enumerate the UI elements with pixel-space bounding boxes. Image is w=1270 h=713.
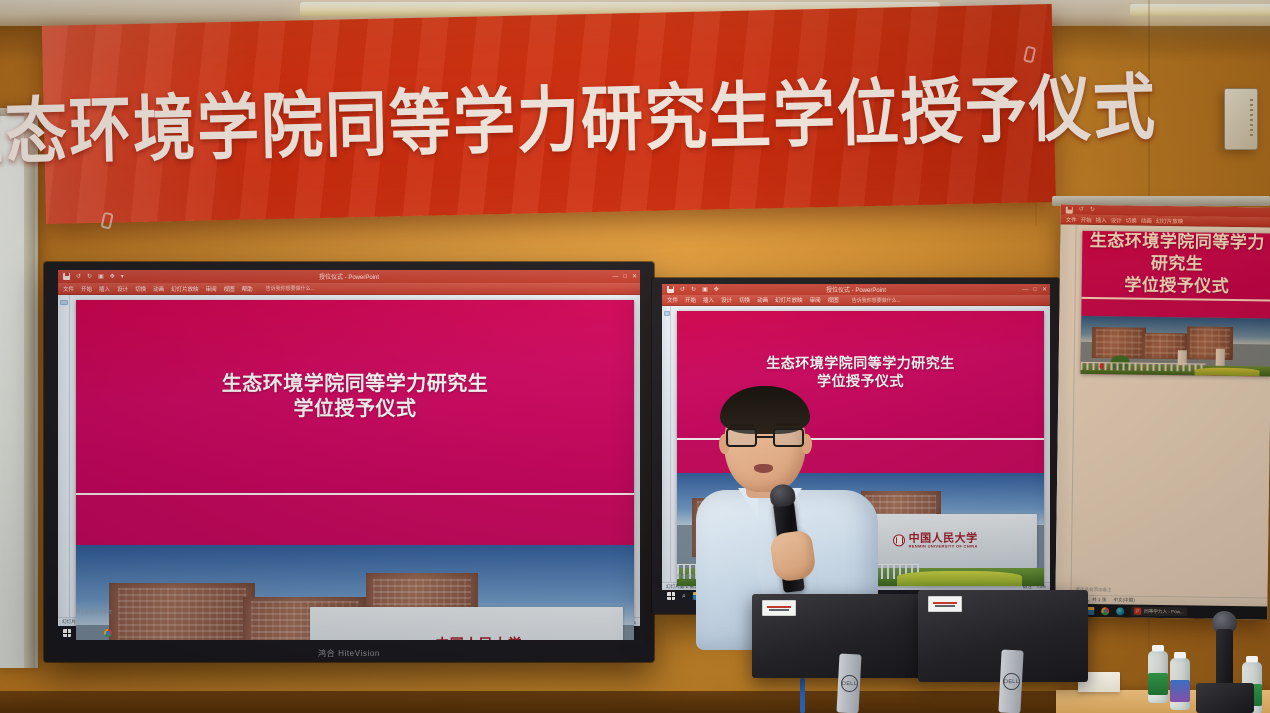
slide-canvas-proj[interactable]: 生态环境学院同等学力研究生 学位授予仪式 [1071, 225, 1270, 598]
tab-file-proj[interactable]: 文件 [1066, 215, 1077, 223]
tab-slideshow-proj[interactable]: 幻灯片放映 [1156, 216, 1184, 224]
undo-icon-right[interactable]: ↺ [680, 287, 685, 293]
slide-divider-rule [76, 493, 634, 495]
microphone-head-icon [769, 483, 796, 508]
table-microphone-rod [1216, 629, 1233, 691]
tab-help[interactable]: 帮助 [242, 285, 253, 293]
monitor-stand-right: DELL [998, 649, 1023, 713]
ppt-editing-area-proj: 生态环境学院同等学力研究生 学位授予仪式 [1055, 225, 1270, 598]
speaker-brow-right [776, 423, 800, 426]
undo-icon[interactable]: ↺ [76, 274, 81, 280]
monitor-cable [800, 678, 805, 713]
tab-slideshow[interactable]: 幻灯片放映 [171, 285, 199, 293]
slide-title-line-2: 学位授予仪式 [222, 396, 489, 422]
chrome-icon[interactable] [104, 629, 112, 637]
tab-home-proj[interactable]: 开始 [1081, 215, 1092, 223]
photo-building-right-proj [1187, 326, 1233, 360]
screen-left[interactable]: ↺ ↻ ▣ ✥ ▾ 授位仪式 - PowerPoint — □ ✕ 文件 [58, 270, 640, 640]
tab-review-right[interactable]: 审阅 [810, 296, 821, 304]
redo-icon-proj[interactable]: ↻ [1090, 207, 1095, 213]
ppt-title-bar-right: ↺ ↻ ▣ ✥ 授位仪式 - PowerPoint — □ ✕ [662, 284, 1050, 295]
tab-design-right[interactable]: 设计 [721, 296, 732, 304]
close-icon-right[interactable]: ✕ [1042, 287, 1047, 293]
powerpoint-window-projected: ↺ ↻ 文件 开始 插入 设计 切换 动画 幻灯片放映 [1055, 205, 1270, 620]
tab-design-proj[interactable]: 设计 [1111, 216, 1122, 224]
photo-pedestrian-proj [1100, 363, 1104, 369]
tab-review[interactable]: 审阅 [206, 285, 217, 293]
tab-slideshow-right[interactable]: 幻灯片放映 [775, 296, 803, 304]
slide-campus-photo-proj [1081, 315, 1270, 376]
edge-icon-proj[interactable] [1116, 607, 1124, 615]
minimize-icon-right[interactable]: — [1022, 287, 1028, 293]
touch-mode-icon-right[interactable]: ✥ [714, 287, 719, 293]
touch-mode-icon[interactable]: ✥ [110, 274, 115, 280]
start-slideshow-icon[interactable]: ▣ [98, 274, 104, 280]
slide-title-line-2-proj: 学位授予仪式 [1082, 274, 1270, 298]
tab-animations-right[interactable]: 动画 [757, 296, 768, 304]
minimize-icon[interactable]: — [612, 274, 618, 280]
maximize-icon-right[interactable]: □ [1033, 287, 1037, 293]
ceiling-light-strip-right [1130, 4, 1270, 16]
dell-logo-left: DELL [840, 675, 857, 692]
powerpoint-icon-proj: P [1134, 608, 1141, 615]
save-icon[interactable] [63, 273, 70, 280]
slide-title-line-1-proj: 生态环境学院同等学力研究生 [1082, 231, 1270, 277]
water-bottle-1 [1148, 645, 1168, 703]
podium-monitor-left [752, 594, 922, 678]
event-banner: 生态环境学院同等学力研究生学位授予仪式 [42, 4, 1056, 224]
photo-gate-names: 中国人民大学 RENMIN UNIVERSITY OF CHINA [435, 638, 522, 640]
lecture-hall-photo: 生态环境学院同等学力研究生学位授予仪式 鸿合 HiteVision ↺ ↻ ▣ … [0, 0, 1270, 713]
slide-thumbnail-1[interactable] [60, 300, 68, 305]
slide-thumbnail-pane[interactable] [58, 295, 70, 617]
tab-animations-proj[interactable]: 动画 [1141, 216, 1152, 224]
customize-qat-icon[interactable]: ▾ [121, 274, 124, 280]
tab-animations[interactable]: 动画 [153, 285, 164, 293]
water-bottle-2 [1170, 652, 1190, 710]
slide-canvas[interactable]: 生态环境学院同等学力研究生 学位授予仪式 [70, 295, 640, 617]
window-controls-right[interactable]: — □ ✕ [1022, 287, 1047, 293]
slide-1[interactable]: 生态环境学院同等学力研究生 学位授予仪式 [76, 300, 634, 640]
glasses-lens-left [726, 428, 757, 447]
taskbar-window-1-label-proj: 同等学力入 - Pow... [1144, 608, 1184, 615]
photo-flowerbed-proj [1195, 367, 1260, 375]
bottle-label-2 [1170, 680, 1190, 702]
tab-design[interactable]: 设计 [117, 285, 128, 293]
redo-icon[interactable]: ↻ [87, 274, 92, 280]
close-icon[interactable]: ✕ [632, 274, 637, 280]
table-microphone-base [1196, 683, 1254, 713]
speaker-brow-left [730, 424, 754, 427]
tab-insert-right[interactable]: 插入 [703, 296, 714, 304]
powerpoint-window-left: ↺ ↻ ▣ ✥ ▾ 授位仪式 - PowerPoint — □ ✕ 文件 [58, 270, 640, 640]
ppt-editing-area: 生态环境学院同等学力研究生 学位授予仪式 [58, 295, 640, 617]
ribbon-tabs-right[interactable]: 文件 开始 插入 设计 切换 动画 幻灯片放映 审阅 视图 告诉我你想要做什么.… [662, 295, 1050, 306]
tab-view-right[interactable]: 视图 [828, 296, 839, 304]
ribbon-tabs[interactable]: 文件 开始 插入 设计 切换 动画 幻灯片放映 审阅 视图 帮助 告诉我你想要做… [58, 283, 640, 295]
gate-name-cn: 中国人民大学 [435, 638, 522, 640]
taskbar-window-1-proj[interactable]: P 同等学力入 - Pow... [1131, 607, 1187, 617]
glasses-lens-right [773, 428, 804, 447]
start-icon[interactable] [63, 629, 71, 637]
whiteboard-frame-side [24, 108, 35, 668]
save-icon-proj[interactable] [1066, 206, 1073, 213]
display-brand-label: 鸿合 HiteVision [318, 648, 380, 659]
tab-transitions-proj[interactable]: 切换 [1126, 216, 1137, 224]
tell-me-search-right[interactable]: 告诉我你想要做什么... [852, 297, 901, 304]
monitor-stand-left: DELL [836, 653, 861, 713]
chrome-icon-proj[interactable] [1101, 607, 1109, 615]
slide-title-proj: 生态环境学院同等学力研究生 学位授予仪式 [1082, 231, 1270, 299]
wall-mounted-device [1224, 88, 1258, 150]
start-slideshow-icon-right[interactable]: ▣ [702, 287, 708, 293]
tab-file[interactable]: 文件 [63, 285, 74, 293]
tab-home[interactable]: 开始 [81, 285, 92, 293]
slide-title-line-1-right: 生态环境学院同等学力研究生 [766, 356, 955, 374]
quick-access-toolbar-proj[interactable]: ↺ ↻ [1061, 206, 1095, 213]
quick-access-toolbar-right[interactable]: ↺ ↻ ▣ ✥ [662, 286, 719, 293]
window-title: 授位仪式 - PowerPoint [319, 272, 379, 281]
tab-transitions[interactable]: 切换 [135, 285, 146, 293]
slide-1-proj[interactable]: 生态环境学院同等学力研究生 学位授予仪式 [1081, 231, 1270, 376]
slide-title: 生态环境学院同等学力研究生 学位授予仪式 [222, 371, 489, 422]
tab-insert-proj[interactable]: 插入 [1096, 216, 1107, 224]
slide-title-line-1: 生态环境学院同等学力研究生 [222, 371, 489, 397]
redo-icon-right[interactable]: ↻ [691, 287, 696, 293]
glasses-bridge [757, 436, 773, 438]
maximize-icon[interactable]: □ [623, 274, 627, 280]
photo-gate-wall: 中国人民大学 RENMIN UNIVERSITY OF CHINA [310, 607, 622, 640]
start-icon-right[interactable] [667, 592, 675, 600]
tab-transitions-right[interactable]: 切换 [739, 296, 750, 304]
asset-tag-sticker-right [928, 596, 962, 612]
quick-access-toolbar[interactable]: ↺ ↻ ▣ ✥ ▾ [58, 273, 124, 280]
slide-campus-photo: 中国人民大学 RENMIN UNIVERSITY OF CHINA [76, 545, 634, 640]
slide-color-band [76, 495, 634, 545]
speaker-glasses-icon [726, 428, 804, 448]
banner-text: 生态环境学院同等学力研究生学位授予仪式 [0, 49, 1158, 180]
bottle-label-1 [1148, 673, 1168, 695]
projection-screen: ↺ ↻ 文件 开始 插入 设计 切换 动画 幻灯片放映 [1055, 205, 1270, 620]
save-icon-right[interactable] [667, 286, 674, 293]
slide-thumbnail-1-right[interactable] [664, 311, 670, 316]
slide-title-block: 生态环境学院同等学力研究生 学位授予仪式 [76, 300, 634, 493]
undo-icon-proj[interactable]: ↺ [1079, 207, 1084, 213]
slide-title-block-proj: 生态环境学院同等学力研究生 学位授予仪式 [1082, 231, 1270, 299]
tab-file-right[interactable]: 文件 [667, 296, 678, 304]
whiteboard [0, 108, 38, 668]
ppt-title-bar: ↺ ↻ ▣ ✥ ▾ 授位仪式 - PowerPoint — □ ✕ [58, 270, 640, 283]
tell-me-search[interactable]: 告诉我你想要做什么... [266, 285, 315, 292]
notes-placeholder[interactable]: 单击此处添加备注 [76, 609, 112, 615]
language-indicator-proj[interactable]: 中文(中国) [1113, 597, 1135, 603]
display-panel-left: 鸿合 HiteVision ↺ ↻ ▣ ✥ ▾ 授位仪式 - PowerPoin… [44, 262, 654, 662]
tab-view[interactable]: 视图 [224, 285, 235, 293]
window-title-right: 授位仪式 - PowerPoint [826, 285, 886, 294]
tab-home-right[interactable]: 开始 [685, 296, 696, 304]
slide-thumbnail-pane-right[interactable] [662, 306, 671, 582]
tab-insert[interactable]: 插入 [99, 285, 110, 293]
search-icon-right[interactable]: ⌕ [682, 593, 686, 600]
asset-tag-sticker-left [762, 600, 796, 616]
window-controls[interactable]: — □ ✕ [612, 274, 637, 280]
photo-building-left [109, 583, 254, 640]
dell-logo-right: DELL [1002, 673, 1019, 690]
table-microphone [1196, 612, 1254, 713]
speaker-mouth [754, 464, 773, 473]
photo-gate-logo: 中国人民大学 RENMIN UNIVERSITY OF CHINA [415, 638, 518, 640]
